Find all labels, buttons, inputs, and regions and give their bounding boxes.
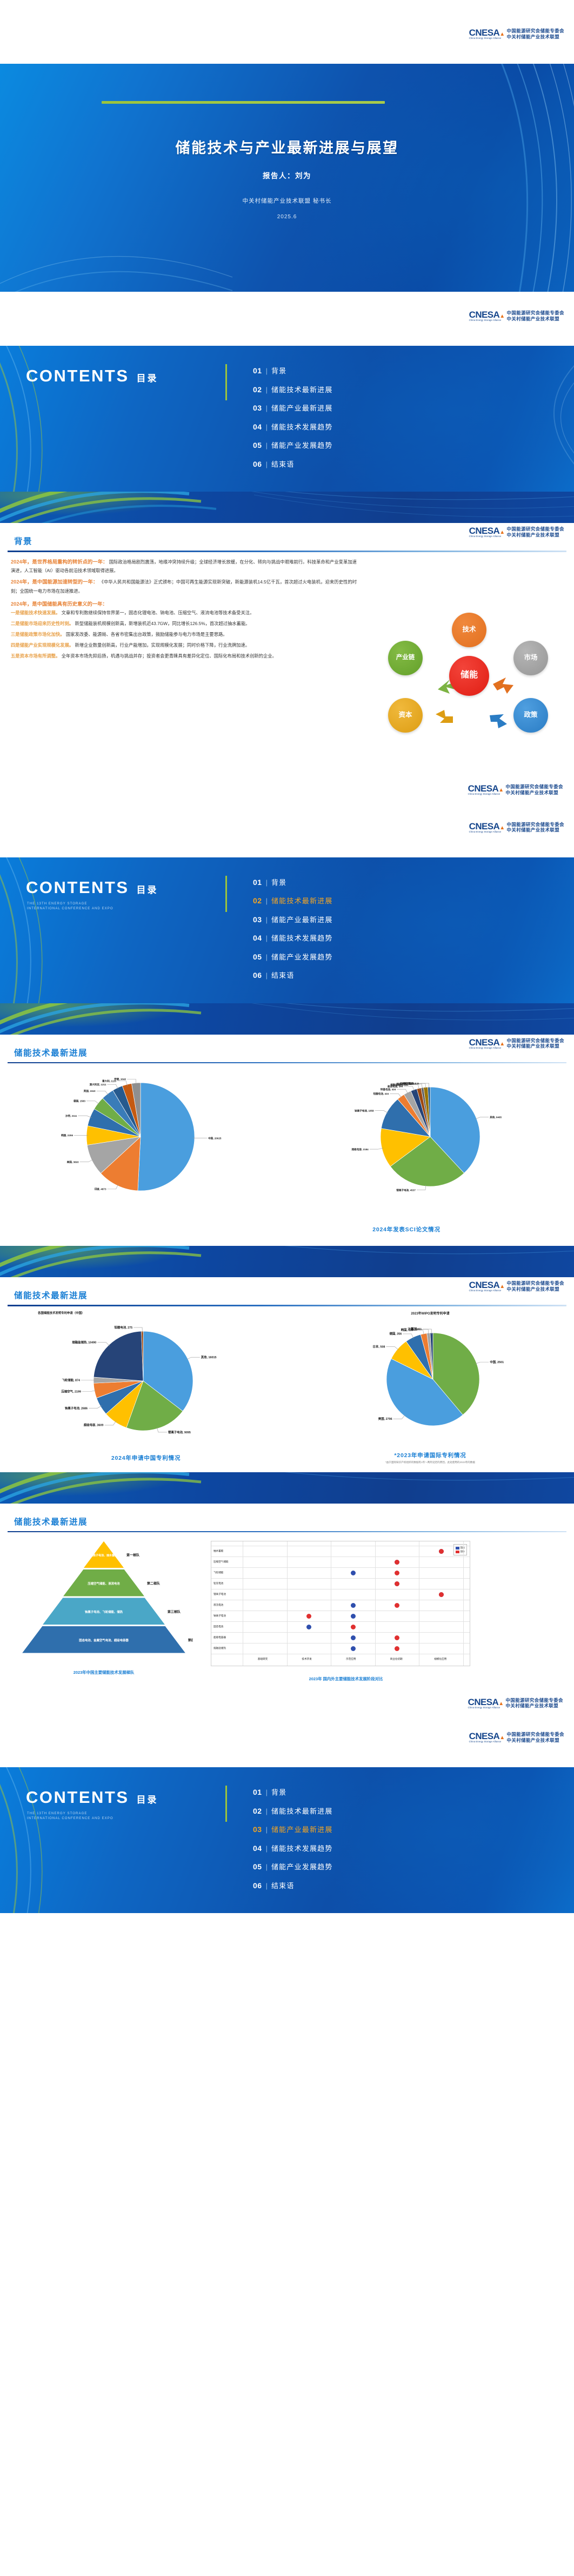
pie-slice-label: 铅酸电池, 275 bbox=[115, 1325, 133, 1329]
contents-item-number: 03 bbox=[253, 1825, 262, 1834]
contents-item-04[interactable]: 04 | 储能技术发展趋势 bbox=[253, 1843, 333, 1853]
cnesa-chinese-names: 中国能源研究会储能专委会 中关村储能产业技术联盟 bbox=[507, 310, 565, 322]
cnesa-acronym: CNESA▲ bbox=[469, 526, 505, 535]
contents-item-number: 04 bbox=[253, 1844, 262, 1853]
contents-item-separator: | bbox=[266, 386, 268, 394]
matrix-gridline-v bbox=[463, 1541, 464, 1666]
pyramid-level-items: 锂离子电池、抽水蓄能 bbox=[90, 1553, 117, 1557]
contents-item-separator: | bbox=[266, 1844, 268, 1853]
energy-storage-hexagon-diagram: 技术 市场 政策 资本 产业链 储能 bbox=[374, 608, 564, 743]
pie-leader-line bbox=[393, 1414, 405, 1419]
contents-item-04[interactable]: 04 | 储能技术发展趋势 bbox=[253, 421, 333, 432]
contents-item-separator: | bbox=[266, 404, 268, 412]
pie-slice-label: 锂离子电池, 9095 bbox=[168, 1430, 191, 1434]
matrix-gridline-h bbox=[211, 1546, 470, 1546]
contents-item-number: 06 bbox=[253, 971, 262, 980]
matrix-gridline-h bbox=[211, 1632, 470, 1633]
contents-item-01[interactable]: 01 | 背景 bbox=[253, 365, 333, 375]
cnesa-wordmark: CNESA▲ China Energy Storage Alliance bbox=[468, 784, 504, 795]
background-point-3-lead: 三是储能政策市场化加快。 bbox=[11, 632, 65, 637]
matrix-data-point bbox=[351, 1625, 356, 1629]
contents-item-label: 背景 bbox=[271, 1787, 286, 1797]
contents-item-separator: | bbox=[266, 1863, 268, 1871]
matrix-y-label: 固态电池 bbox=[213, 1626, 223, 1628]
contents-title-cn: 目录 bbox=[137, 371, 158, 384]
chart-caption-cn-patents: 2024年申请中国专利情况 bbox=[5, 1454, 286, 1462]
contents-item-separator: | bbox=[266, 1788, 268, 1796]
charts-container: 中国, 20025印度, 4873美国, 3693韩国, 2255沙特, 211… bbox=[0, 1063, 574, 1224]
cnesa-english-name: China Energy Storage Alliance bbox=[469, 1290, 505, 1292]
cnesa-logo-footer: CNESA▲ China Energy Storage Alliance 中国能… bbox=[468, 1698, 563, 1709]
cnesa-english-name: China Energy Storage Alliance bbox=[468, 793, 504, 795]
contents-item-label: 储能技术发展趋势 bbox=[271, 933, 333, 943]
pyramid-caption: 2023年中国主要储能技术发展梯队 bbox=[12, 1669, 196, 1675]
contents-item-label: 储能产业最新进展 bbox=[271, 914, 333, 924]
pie-leader-line bbox=[89, 1405, 102, 1408]
matrix-gridline-h bbox=[211, 1621, 470, 1622]
cnesa-cn-line-1: 中国能源研究会储能专委会 bbox=[507, 822, 565, 828]
pie-slice-label: 英国, 61 bbox=[411, 1326, 422, 1331]
pie-svg-wipo: 中国, 2501美国, 2796日本, 508德国, 356韩国, 139法国,… bbox=[290, 1316, 571, 1447]
matrix-data-point bbox=[351, 1571, 356, 1575]
background-text-column: 2024年，是世界格局重构的转折点的一年： 国际政治格局剧烈震荡，地缘冲突持续升… bbox=[0, 558, 357, 661]
contents-item-06[interactable]: 06 | 结束语 bbox=[253, 970, 333, 980]
cnesa-cn-line-1: 中国能源研究会储能专委会 bbox=[507, 1038, 565, 1044]
contents-item-number: 04 bbox=[253, 422, 262, 431]
pie-svg-countries: 中国, 20025印度, 4873美国, 3693韩国, 2255沙特, 211… bbox=[5, 1068, 286, 1207]
contents-item-label: 储能技术最新进展 bbox=[271, 384, 333, 394]
contents-divider bbox=[225, 364, 227, 400]
contents-subtitle-line-2: INTERNATIONAL CONFERENCE AND EXPO bbox=[27, 1816, 114, 1821]
pie-leader-line bbox=[475, 1362, 489, 1364]
contents-header-1: CNESA▲ China Energy Storage Alliance 中国能… bbox=[0, 292, 574, 346]
contents-item-06[interactable]: 06 | 结束语 bbox=[253, 459, 333, 469]
matrix-x-label: 技术开发 bbox=[302, 1658, 311, 1661]
pie-slice-label: 沙特, 2111 bbox=[65, 1114, 77, 1118]
contents-item-02[interactable]: 02 | 储能技术最新进展 bbox=[253, 895, 333, 905]
contents-item-separator: | bbox=[266, 460, 268, 468]
cnesa-cn-line-2: 中关村储能产业技术联盟 bbox=[507, 827, 565, 833]
matrix-data-point bbox=[306, 1614, 311, 1619]
contents-divider bbox=[225, 876, 227, 912]
pie-chart-wipo-patents: 2023年WIPO发明专利申请 中国, 2501美国, 2796日本, 508德… bbox=[290, 1311, 571, 1465]
pie-chart-sci-by-country: 中国, 20025印度, 4873美国, 3693韩国, 2255沙特, 211… bbox=[5, 1068, 286, 1224]
cnesa-wordmark: CNESA▲ China Energy Storage Alliance bbox=[469, 1732, 505, 1743]
contents-item-label: 储能产业发展趋势 bbox=[271, 951, 333, 962]
caption-row: 2024年发表SCI论文情况 bbox=[0, 1224, 574, 1246]
pie-slice-label: 钠离子电池, 1858 bbox=[355, 1109, 374, 1112]
cn-patents-subtitle: 各国储能技术发明专利申请（中国） bbox=[5, 1311, 286, 1315]
chart-footnote-wipo: *由于国际知识产权组织的数据有1年～两年延迟的原因，此处使用的2023年的数据 bbox=[290, 1461, 571, 1465]
contents-title-en: CONTENTS bbox=[26, 366, 129, 386]
matrix-gridline-v bbox=[375, 1541, 376, 1666]
matrix-data-point bbox=[395, 1646, 399, 1651]
tech-echelon-pyramid: 锂离子电池、抽水蓄能第一梯队压缩空气储能、液流电池第二梯队钠离子电池、飞轮储能、… bbox=[15, 1541, 193, 1666]
contents-subtitle: THE 13TH ENERGY STORAGE INTERNATIONAL CO… bbox=[27, 1812, 114, 1821]
matrix-y-label: 抽水蓄能 bbox=[213, 1550, 223, 1553]
pyramid-level-items: 固态电池、金属空气电池、超级电容器 bbox=[79, 1638, 129, 1642]
cnesa-cn-line-2: 中关村储能产业技术联盟 bbox=[507, 1286, 565, 1292]
matrix-data-point bbox=[439, 1592, 444, 1597]
contents-item-03[interactable]: 03 | 储能产业最新进展 bbox=[253, 1824, 333, 1834]
matrix-y-label: 飞轮储能 bbox=[213, 1572, 223, 1574]
pie-slice-label: 其他, 16015 bbox=[201, 1355, 217, 1359]
slide-header: 背景 CNESA▲ China Energy Storage Alliance … bbox=[0, 523, 574, 547]
hexagon-node-capital: 资本 bbox=[388, 698, 423, 733]
contents-item-separator: | bbox=[266, 1807, 268, 1815]
cnesa-wordmark: CNESA▲ China Energy Storage Alliance bbox=[469, 1280, 505, 1292]
presentation-date: 2025.6 bbox=[0, 214, 574, 220]
matrix-y-label: 铅炭电池 bbox=[213, 1582, 223, 1585]
contents-item-03[interactable]: 03 | 储能产业最新进展 bbox=[253, 403, 333, 413]
matrix-y-label: 熔融盐储热 bbox=[213, 1647, 226, 1650]
pyramid-level-items: 压缩空气储能、液流电池 bbox=[88, 1581, 120, 1586]
contents-item-01[interactable]: 01 | 背景 bbox=[253, 877, 333, 887]
background-point-1-body: 文章和专利数继续保持世界第一，固态化锂电池、钠电池、压缩空气、液流电池等技术备受… bbox=[62, 610, 255, 615]
pie-slice-label: 英国, 1510 bbox=[84, 1089, 96, 1093]
cnesa-acronym: CNESA▲ bbox=[469, 1038, 505, 1047]
pie-leader-line bbox=[86, 1101, 99, 1104]
matrix-x-label: 规模化应用 bbox=[434, 1658, 446, 1661]
chart-caption-sci: 2024年发表SCI论文情况 bbox=[325, 1225, 488, 1233]
cnesa-acronym: CNESA▲ bbox=[469, 1732, 505, 1741]
cnesa-cn-line-1: 中国能源研究会储能专委会 bbox=[507, 526, 565, 532]
contents-item-number: 02 bbox=[253, 385, 262, 394]
matrix-gridline-h bbox=[211, 1589, 470, 1589]
contents-item-separator: | bbox=[266, 897, 268, 905]
cnesa-cn-line-2: 中关村储能产业技术联盟 bbox=[507, 34, 565, 40]
contents-heading: CONTENTS 目录 bbox=[26, 1788, 158, 1807]
matrix-data-point bbox=[395, 1581, 399, 1586]
hexagon-node-technology: 技术 bbox=[452, 613, 486, 647]
matrix-data-point bbox=[395, 1571, 399, 1575]
cnesa-logo-footer: CNESA▲ China Energy Storage Alliance 中国能… bbox=[468, 784, 563, 796]
contents-list: 01 | 背景 02 | 储能技术最新进展 03 | 储能产业最新进展 04 |… bbox=[253, 365, 333, 477]
matrix-gridline-v bbox=[331, 1541, 331, 1666]
matrix-gridline-h bbox=[211, 1557, 470, 1557]
contents-item-label: 结束语 bbox=[271, 970, 295, 980]
contents-item-02[interactable]: 02 | 储能技术最新进展 bbox=[253, 1806, 333, 1816]
background-lead-1: 2024年，是世界格局重构的转折点的一年： bbox=[11, 559, 108, 565]
matrix-x-label: 商业化初期 bbox=[390, 1658, 403, 1661]
contents-item-03[interactable]: 03 | 储能产业最新进展 bbox=[253, 914, 333, 924]
cnesa-cn-line-2: 中关村储能产业技术联盟 bbox=[507, 1043, 565, 1049]
slide-footer: CNESA▲ China Energy Storage Alliance 中国能… bbox=[0, 1682, 574, 1713]
cnesa-chinese-names: 中国能源研究会储能专委会 中关村储能产业技术联盟 bbox=[507, 1732, 565, 1743]
contents-item-number: 03 bbox=[253, 404, 262, 412]
slide-contents-1: CNESA▲ China Energy Storage Alliance 中国能… bbox=[0, 292, 574, 492]
pie-slice-label: 中国, 20025 bbox=[208, 1137, 222, 1141]
contents-item-number: 05 bbox=[253, 441, 262, 450]
cnesa-chinese-names: 中国能源研究会储能专委会 中关村储能产业技术联盟 bbox=[507, 822, 565, 834]
slide-topbar bbox=[0, 1246, 574, 1277]
pie-slice-label: 日本, 508 bbox=[373, 1344, 385, 1349]
contents-item-label: 背景 bbox=[271, 365, 286, 375]
pie-slice bbox=[94, 1331, 143, 1381]
pie-chart-cn-patents: 各国储能技术发明专利申请（中国） 其他, 16015锂离子电池, 9095超级电… bbox=[5, 1311, 286, 1462]
cnesa-cn-line-1: 中国能源研究会储能专委会 bbox=[507, 28, 565, 34]
cnesa-chinese-names: 中国能源研究会储能专委会 中关村储能产业技术联盟 bbox=[507, 526, 565, 538]
contents-item-label: 储能技术最新进展 bbox=[271, 895, 333, 905]
pie-slice-label: 美国, 2796 bbox=[378, 1417, 392, 1421]
background-point-1: 一是储能技术快速发展。 文章和专利数继续保持世界第一，固态化锂电池、钠电池、压缩… bbox=[11, 609, 357, 618]
cnesa-cn-line-1: 中国能源研究会储能专委会 bbox=[507, 1280, 565, 1286]
matrix-data-point bbox=[395, 1603, 399, 1608]
background-point-3: 三是储能政策市场化加快。 国家发改委、能源局、各省市密集出台政策，鼓励储能参与电… bbox=[11, 630, 357, 639]
pie-slice-label: 伊朗, 1042 bbox=[114, 1077, 126, 1081]
topbar-decor bbox=[0, 1003, 574, 1035]
slide-contents-3: CNESA▲ China Energy Storage Alliance 中国能… bbox=[0, 1713, 574, 1913]
topbar-decor bbox=[0, 1472, 574, 1504]
matrix-gridline-h bbox=[211, 1567, 470, 1568]
matrix-gridline-h bbox=[211, 1654, 470, 1654]
title-slide-body: 储能技术与产业最新进展与展望 报告人：刘为 中关村储能产业技术联盟 秘书长 20… bbox=[0, 64, 574, 292]
cnesa-logo: CNESA▲ China Energy Storage Alliance 中国能… bbox=[469, 1732, 564, 1743]
contents-header-2: CNESA▲ China Energy Storage Alliance 中国能… bbox=[0, 803, 574, 857]
pie-slice-label: 熔融盐储热, 10490 bbox=[72, 1340, 96, 1344]
slide-title: CNESA▲ China Energy Storage Alliance 中国能… bbox=[0, 0, 574, 292]
background-point-4-lead: 四是储能产业实现规模化发展。 bbox=[11, 642, 74, 648]
pie-slice-label: 钠离子电池, 2686 bbox=[65, 1406, 88, 1410]
background-point-3-body: 国家发改委、能源局、各省市密集出台政策，鼓励储能参与电力市场是主要思路。 bbox=[66, 632, 228, 637]
pie-slice-label: 美国, 3693 bbox=[67, 1160, 79, 1164]
pie-leader-line bbox=[370, 1148, 383, 1149]
background-point-2: 二是储能市场迎来历史性时刻。 新型储能装机规模创新高，新增装机近43.7GW，同… bbox=[11, 620, 357, 628]
cnesa-english-name: China Energy Storage Alliance bbox=[468, 1707, 504, 1709]
cnesa-acronym: CNESA▲ bbox=[469, 1280, 505, 1290]
cnesa-acronym: CNESA▲ bbox=[469, 310, 505, 319]
contents-item-number: 05 bbox=[253, 1862, 262, 1871]
matrix-data-point bbox=[395, 1560, 399, 1565]
contents-divider bbox=[225, 1786, 227, 1822]
cnesa-cn-line-1: 中国能源研究会储能专委会 bbox=[506, 1698, 564, 1703]
contents-item-label: 储能产业最新进展 bbox=[271, 403, 333, 413]
presenter-organization: 中关村储能产业技术联盟 秘书长 bbox=[0, 197, 574, 205]
pie-slice-label: 德国, 356 bbox=[389, 1331, 402, 1336]
contents-item-number: 01 bbox=[253, 366, 262, 375]
contents-header-3: CNESA▲ China Energy Storage Alliance 中国能… bbox=[0, 1713, 574, 1767]
presenter-name: 报告人：刘为 bbox=[0, 170, 574, 180]
matrix-x-label: 示范应用 bbox=[346, 1658, 356, 1661]
contents-item-label: 储能产业发展趋势 bbox=[271, 440, 333, 450]
slide-header: 储能技术最新进展 CNESA▲ China Energy Storage All… bbox=[0, 1035, 574, 1058]
pie-slice-label: 锌基电池, 424 bbox=[381, 1088, 396, 1091]
contents-item-number: 01 bbox=[253, 878, 262, 887]
contents-item-06[interactable]: 06 | 结束语 bbox=[253, 1880, 333, 1890]
pie-slice-label: 韩国, 2255 bbox=[61, 1133, 73, 1137]
tech-stage-matrix: 国内 国外 抽水蓄能压缩空气储能飞轮储能铅炭电池锂离子电池液流电池钠离子电池固态… bbox=[211, 1541, 470, 1666]
contents-title-en: CONTENTS bbox=[26, 878, 129, 897]
cnesa-english-name: China Energy Storage Alliance bbox=[469, 1741, 505, 1743]
contents-item-separator: | bbox=[266, 441, 268, 450]
contents-title-cn: 目录 bbox=[137, 1792, 158, 1806]
contents-item-05[interactable]: 05 | 储能产业发展趋势 bbox=[253, 951, 333, 962]
contents-heading: CONTENTS 目录 bbox=[26, 878, 158, 897]
background-point-5: 五是资本市场有所调整。 全年资本市场先抑后扬，机遇与挑战并存；投资者会更青睐具有… bbox=[11, 652, 357, 661]
pie-slice-label: 超级电容, 3609 bbox=[83, 1423, 104, 1427]
contents-item-separator: | bbox=[266, 1826, 268, 1834]
hexagon-node-center: 储能 bbox=[449, 656, 489, 696]
pie-slice-label: 澳大利亚, 1211 bbox=[89, 1083, 106, 1086]
charts-container: 各国储能技术发明专利申请（中国） 其他, 16015锂离子电池, 9095超级电… bbox=[0, 1306, 574, 1465]
slide-background: 背景 CNESA▲ China Energy Storage Alliance … bbox=[0, 492, 574, 803]
cnesa-wordmark: CNESA▲ China Energy Storage Alliance bbox=[469, 1038, 505, 1049]
matrix-data-point bbox=[306, 1625, 311, 1629]
matrix-gridline-h bbox=[211, 1611, 470, 1611]
cnesa-chinese-names: 中国能源研究会储能专委会 中关村储能产业技术联盟 bbox=[506, 1698, 564, 1709]
background-body: 2024年，是世界格局重构的转折点的一年： 国际政治格局剧烈震荡，地缘冲突持续升… bbox=[0, 552, 574, 803]
background-point-5-lead: 五是资本市场有所调整。 bbox=[11, 653, 60, 659]
cnesa-cn-line-1: 中国能源研究会储能专委会 bbox=[506, 784, 564, 790]
wipo-patents-title: 2023年WIPO发明专利申请 bbox=[290, 1311, 571, 1316]
contents-item-number: 06 bbox=[253, 460, 262, 468]
matrix-data-point bbox=[351, 1614, 356, 1619]
cnesa-acronym: CNESA▲ bbox=[469, 28, 505, 37]
cnesa-cn-line-2: 中关村储能产业技术联盟 bbox=[507, 316, 565, 322]
pie-slice-label: 超级电容, 2184 bbox=[351, 1148, 369, 1151]
matrix-gridline-v bbox=[287, 1541, 288, 1666]
topbar-decor bbox=[0, 1246, 574, 1277]
matrix-y-label: 超级电容器 bbox=[213, 1636, 226, 1639]
pie-slice-label: 德国, 1583 bbox=[74, 1099, 85, 1103]
pyramid-svg: 锂离子电池、抽水蓄能第一梯队压缩空气储能、液流电池第二梯队钠离子电池、飞轮储能、… bbox=[15, 1541, 193, 1658]
slide-tech-progress-1: 储能技术最新进展 CNESA▲ China Energy Storage All… bbox=[0, 1003, 574, 1246]
pie-leader-line bbox=[82, 1390, 96, 1391]
matrix-y-label: 压缩空气储能 bbox=[213, 1561, 229, 1564]
cnesa-cn-line-2: 中关村储能产业技术联盟 bbox=[507, 532, 565, 538]
cnesa-chinese-names: 中国能源研究会储能专委会 中关村储能产业技术联盟 bbox=[506, 784, 564, 796]
contents-item-separator: | bbox=[266, 423, 268, 431]
slide-header: 储能技术最新进展 CNESA▲ China Energy Storage All… bbox=[0, 1277, 574, 1301]
cnesa-logo: CNESA▲ China Energy Storage Alliance 中国能… bbox=[469, 310, 564, 322]
section-title: 储能技术最新进展 bbox=[14, 1515, 574, 1527]
pie-leader-line bbox=[80, 1159, 94, 1162]
contents-item-label: 结束语 bbox=[271, 1880, 295, 1890]
pie-slice bbox=[138, 1083, 195, 1191]
cnesa-logo: CNESA▲ China Energy Storage Alliance 中国能… bbox=[469, 1038, 564, 1050]
slide-header: 储能技术最新进展 bbox=[0, 1504, 574, 1527]
page-title: 储能技术与产业最新进展与展望 bbox=[0, 136, 574, 157]
background-point-4-body: 新增企业数量创新高，行业产能增加，实现规模化发展；同时价格下降，行业洗牌加速。 bbox=[75, 642, 250, 648]
contents-subtitle: THE 13TH ENERGY STORAGE INTERNATIONAL CO… bbox=[27, 902, 114, 911]
cnesa-english-name: China Energy Storage Alliance bbox=[469, 37, 505, 39]
pyramid-level-label: 第二梯队 bbox=[146, 1581, 161, 1586]
cnesa-wordmark: CNESA▲ China Energy Storage Alliance bbox=[469, 822, 505, 833]
slide-tech-progress-3: 储能技术最新进展 锂离子电池、抽水蓄能第一梯队压缩空气储能、液流电池第二梯队钠离… bbox=[0, 1472, 574, 1714]
cnesa-logo: CNESA▲ China Energy Storage Alliance 中国能… bbox=[469, 1280, 564, 1292]
background-lead-3: 2024年，是中国储能具有历史意义的一年： bbox=[11, 600, 357, 607]
contents-body-3: CONTENTS 目录 THE 13TH ENERGY STORAGE INTE… bbox=[0, 1767, 574, 1913]
pie-slice-label: 印度, 4873 bbox=[95, 1188, 106, 1191]
slide-topbar bbox=[0, 1472, 574, 1504]
contents-item-separator: | bbox=[266, 934, 268, 942]
matrix-gridline-v bbox=[419, 1541, 419, 1666]
matrix-gridline-v bbox=[243, 1541, 243, 1666]
contents-item-05[interactable]: 05 | 储能产业发展趋势 bbox=[253, 440, 333, 450]
cnesa-chinese-names: 中国能源研究会储能专委会 中关村储能产业技术联盟 bbox=[507, 1280, 565, 1292]
cnesa-logo: CNESA▲ China Energy Storage Alliance 中国能… bbox=[469, 28, 564, 40]
matrix-gridline-h bbox=[211, 1578, 470, 1579]
cnesa-english-name: China Energy Storage Alliance bbox=[469, 319, 505, 321]
contents-item-02[interactable]: 02 | 储能技术最新进展 bbox=[253, 384, 333, 394]
cnesa-cn-line-2: 中关村储能产业技术联盟 bbox=[507, 1738, 565, 1743]
matrix-y-label: 锂离子电池 bbox=[213, 1593, 226, 1596]
contents-item-number: 02 bbox=[253, 1807, 262, 1815]
slide-topbar bbox=[0, 1003, 574, 1035]
pie-slice-label: 抽水蓄能, 131 bbox=[404, 1082, 419, 1085]
cnesa-cn-line-2: 中关村储能产业技术联盟 bbox=[506, 790, 564, 796]
cnesa-acronym: CNESA▲ bbox=[469, 822, 505, 831]
cnesa-wordmark: CNESA▲ China Energy Storage Alliance bbox=[469, 28, 505, 39]
background-point-1-lead: 一是储能技术快速发展。 bbox=[11, 610, 60, 615]
contents-item-label: 储能产业最新进展 bbox=[271, 1824, 333, 1834]
cnesa-cn-line-1: 中国能源研究会储能专委会 bbox=[507, 310, 565, 316]
cnesa-wordmark: CNESA▲ China Energy Storage Alliance bbox=[469, 310, 505, 321]
title-slide-header: CNESA▲ China Energy Storage Alliance 中国能… bbox=[0, 0, 574, 64]
contents-item-05[interactable]: 05 | 储能产业发展趋势 bbox=[253, 1861, 333, 1871]
matrix-gridline-h bbox=[211, 1643, 470, 1643]
pyramid-level-label: 第三梯队 bbox=[167, 1609, 181, 1614]
contents-item-label: 储能产业发展趋势 bbox=[271, 1861, 333, 1871]
contents-item-separator: | bbox=[266, 953, 268, 961]
pie-svg-tech: 其他, 6465锂离子电池, 4537超级电容, 2184钠离子电池, 1858… bbox=[290, 1068, 571, 1207]
hexagon-node-market: 市场 bbox=[513, 641, 548, 675]
pyramid-level-items: 钠离子电池、飞轮储能、储热 bbox=[85, 1609, 123, 1614]
contents-title-cn: 目录 bbox=[137, 882, 158, 896]
title-accent-bar bbox=[102, 101, 385, 104]
pie-leader-line bbox=[375, 1111, 389, 1113]
contents-item-separator: | bbox=[266, 1882, 268, 1890]
chart-caption-wipo: *2023年申请国际专利情况 bbox=[290, 1451, 571, 1459]
contents-heading: CONTENTS 目录 bbox=[26, 366, 158, 386]
contents-list: 01 | 背景 02 | 储能技术最新进展 03 | 储能产业最新进展 04 |… bbox=[253, 1787, 333, 1899]
contents-item-label: 背景 bbox=[271, 877, 286, 887]
hexagon-node-policy: 政策 bbox=[513, 698, 548, 733]
contents-item-separator: | bbox=[266, 916, 268, 924]
matrix-gridline-h bbox=[211, 1600, 470, 1600]
matrix-column: 国内 国外 抽水蓄能压缩空气储能飞轮储能铅炭电池锂离子电池液流电池钠离子电池固态… bbox=[211, 1539, 481, 1682]
contents-item-04[interactable]: 04 | 储能技术发展趋势 bbox=[253, 933, 333, 943]
cnesa-wordmark: CNESA▲ China Energy Storage Alliance bbox=[469, 526, 505, 538]
pie-slice-label: 其他, 6465 bbox=[490, 1116, 502, 1119]
contents-subtitle-line-1: THE 13TH ENERGY STORAGE bbox=[27, 902, 114, 907]
cnesa-english-name: China Energy Storage Alliance bbox=[469, 535, 505, 538]
topbar-decor bbox=[0, 492, 574, 523]
matrix-y-label: 钠离子电池 bbox=[213, 1615, 226, 1618]
matrix-data-point bbox=[351, 1646, 356, 1651]
background-paragraph-2: 2024年，是中国能源加速转型的一年： 《中华人民共和国能源法》正式颁布；中国可… bbox=[11, 578, 357, 596]
matrix-data-point bbox=[439, 1549, 444, 1554]
background-point-2-body: 新型储能装机规模创新高，新增装机近43.7GW，同比增长126.5%，首次超过抽… bbox=[75, 621, 250, 626]
contents-item-01[interactable]: 01 | 背景 bbox=[253, 1787, 333, 1797]
slide-topbar bbox=[0, 492, 574, 523]
contents-title-en: CONTENTS bbox=[26, 1788, 129, 1807]
matrix-data-point bbox=[395, 1635, 399, 1640]
cnesa-acronym: CNESA▲ bbox=[468, 1698, 504, 1707]
pyramid-level-label: 第一梯队 bbox=[126, 1553, 140, 1557]
slide-contents-2: CNESA▲ China Energy Storage Alliance 中国能… bbox=[0, 803, 574, 1003]
pie-leader-line bbox=[475, 1117, 489, 1119]
slide-tech-progress-2: 储能技术最新进展 CNESA▲ China Energy Storage All… bbox=[0, 1246, 574, 1472]
contents-item-label: 结束语 bbox=[271, 459, 295, 469]
contents-body-1: CONTENTS 目录 01 | 背景 02 | 储能技术最新进展 03 | 储… bbox=[0, 346, 574, 492]
pie-slice-label: 中国, 2501 bbox=[490, 1360, 504, 1364]
pie-svg-cn-patents: 其他, 16015锂离子电池, 9095超级电容, 3609钠离子电池, 268… bbox=[5, 1315, 286, 1450]
cnesa-english-name: China Energy Storage Alliance bbox=[469, 1047, 505, 1049]
background-point-4: 四是储能产业实现规模化发展。 新增企业数量创新高，行业产能增加，实现规模化发展；… bbox=[11, 641, 357, 650]
matrix-x-label: 基础研究 bbox=[258, 1658, 268, 1661]
cnesa-acronym: CNESA▲ bbox=[468, 784, 504, 793]
